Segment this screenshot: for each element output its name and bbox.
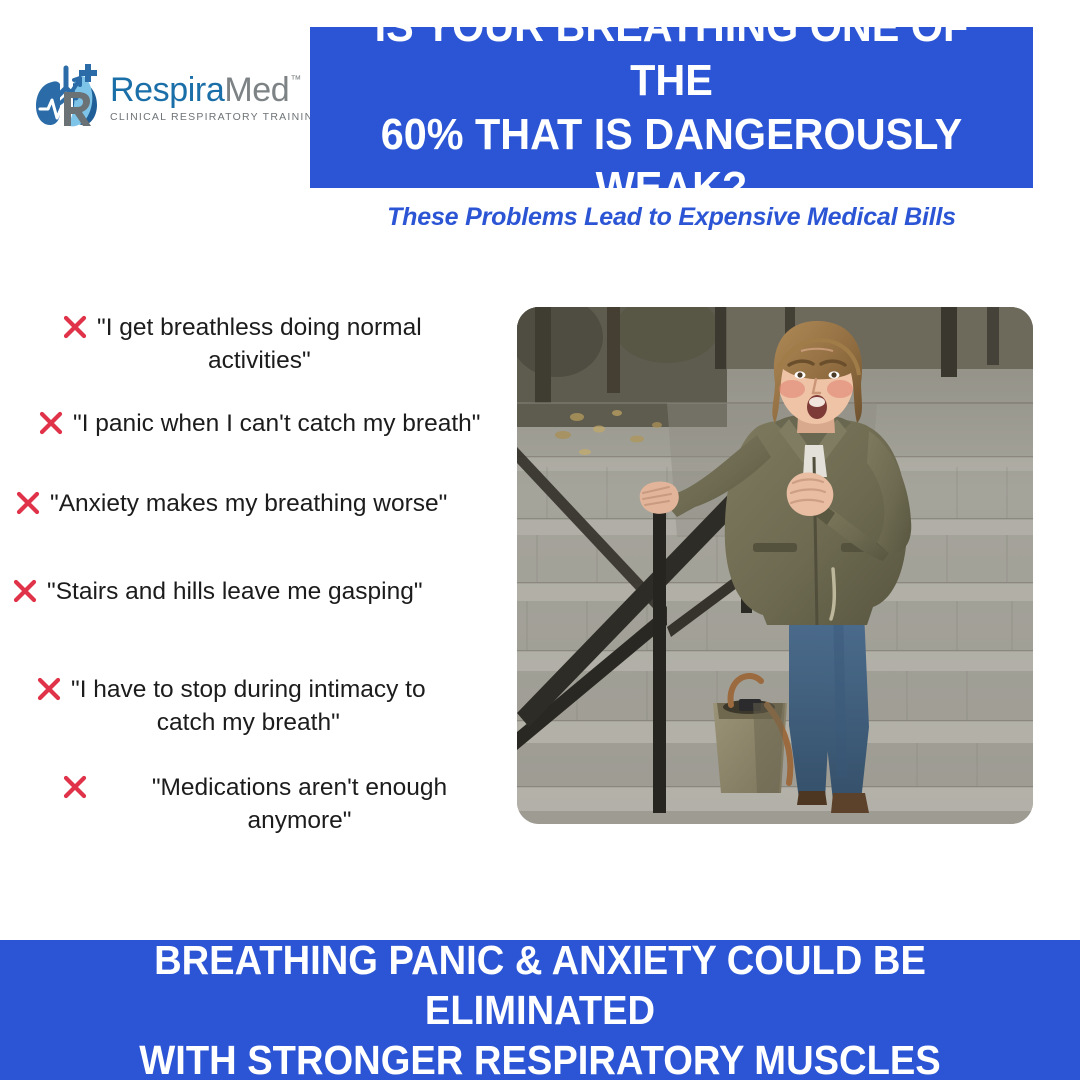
subtitle-text: These Problems Lead to Expensive Medical…: [310, 203, 1033, 232]
brand-name-secondary: Med: [224, 73, 289, 107]
list-item-label: "Anxiety makes my breathing worse": [50, 488, 447, 521]
footer-headline-text: BREATHING PANIC & ANXIETY COULD BE ELIMI…: [38, 935, 1042, 1085]
brand-name: Respira Med ™: [110, 73, 323, 107]
red-x-icon: [36, 676, 62, 702]
headline-text: IS YOUR BREATHING ONE OF THE 60% THAT IS…: [347, 0, 997, 215]
list-item: "Stairs and hills leave me gasping": [12, 576, 452, 609]
brand-wordmark: Respira Med ™ CLINICAL RESPIRATORY TRAIN…: [110, 73, 323, 123]
list-item: "I have to stop during intimacy to catch…: [36, 674, 436, 739]
lungs-with-r-and-cross-icon: [30, 62, 106, 134]
footer-banner: BREATHING PANIC & ANXIETY COULD BE ELIMI…: [0, 940, 1080, 1080]
woman-breathless-on-stone-stairs-photo: [517, 307, 1033, 824]
red-x-icon: [38, 410, 64, 436]
list-item: "I get breathless doing normal activitie…: [62, 312, 462, 377]
trademark-symbol: ™: [290, 75, 301, 86]
list-item: "I panic when I can't catch my breath": [38, 408, 488, 441]
brand-logo: Respira Med ™ CLINICAL RESPIRATORY TRAIN…: [30, 58, 295, 138]
red-x-icon: [15, 490, 41, 516]
list-item-label: "I panic when I can't catch my breath": [73, 408, 480, 441]
list-item: "Medications aren't enough anymore": [62, 772, 502, 837]
list-item-label: "I have to stop during intimacy to catch…: [71, 674, 426, 739]
list-item: "Anxiety makes my breathing worse": [15, 488, 465, 521]
headline-banner: IS YOUR BREATHING ONE OF THE 60% THAT IS…: [310, 27, 1033, 188]
list-item-label: "I get breathless doing normal activitie…: [97, 312, 422, 377]
brand-name-primary: Respira: [110, 73, 224, 107]
red-x-icon: [12, 578, 38, 604]
list-item-label: "Stairs and hills leave me gasping": [47, 576, 423, 609]
red-x-icon: [62, 314, 88, 340]
symptom-list: "I get breathless doing normal activitie…: [0, 300, 500, 820]
list-item-label: "Medications aren't enough anymore": [97, 772, 502, 837]
red-x-icon: [62, 774, 88, 800]
brand-tagline: CLINICAL RESPIRATORY TRAINING: [110, 111, 323, 123]
